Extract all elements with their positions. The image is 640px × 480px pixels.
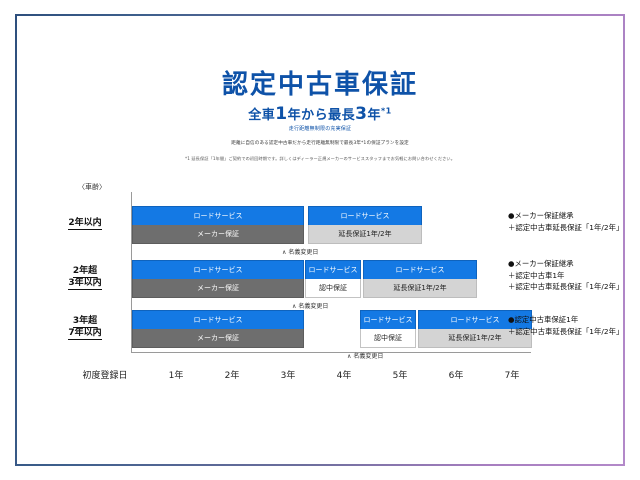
bar-segment: ロードサービスメーカー保証: [132, 310, 304, 348]
bar-segment-top-label: ロードサービス: [132, 310, 304, 329]
bar-segment: ロードサービスメーカー保証: [132, 206, 304, 244]
row-label-line: 3年超: [45, 316, 125, 328]
x-axis: 初度登録日1年2年3年4年5年6年7年: [45, 368, 597, 388]
annotation-line: ＋認定中古車延長保証「1年/2年」: [508, 281, 623, 293]
bar-segment-top-label: ロードサービス: [132, 206, 304, 225]
x-axis-tick: 1年: [169, 368, 184, 381]
subtitle-pre: 全車: [248, 108, 275, 123]
axis-unit-label: 〈車齢〉: [53, 182, 131, 192]
ownership-change-marker: ∧名義変更日: [347, 351, 383, 360]
slide-root: 認定中古車保証 全車1年から最長3年*1 走行距離無制限の充実保証 距離に自信の…: [0, 0, 640, 480]
subtitle-mid: 年から最長: [288, 108, 356, 123]
x-axis-tick: 初度登録日: [82, 368, 127, 381]
bar-segment: ロードサービスメーカー保証: [132, 260, 304, 298]
row-label: 2年超3年以内: [45, 266, 125, 290]
bar-segment-top-label: ロードサービス: [305, 260, 361, 279]
row-label: 2年以内: [45, 218, 125, 230]
bar-segment-bottom-label: メーカー保証: [132, 329, 304, 348]
caret-up-icon: ∧: [292, 303, 296, 310]
subtitle-footnote-mark: *1: [381, 107, 392, 116]
marker-label: 名義変更日: [298, 303, 328, 310]
horizontal-axis-line: [131, 352, 531, 353]
row-annotation: ●認定中古車保証1年＋認定中古車延長保証「1年/2年」: [508, 314, 623, 337]
caret-up-icon: ∧: [347, 353, 351, 360]
subtitle-num-2: 3: [355, 104, 367, 124]
bar-segment-top-label: ロードサービス: [360, 310, 416, 329]
x-axis-tick: 7年: [505, 368, 520, 381]
bar-segment: ロードサービス認中保証: [360, 310, 416, 348]
bar-segment-top-label: ロードサービス: [132, 260, 304, 279]
annotation-line: ●メーカー保証継承: [508, 258, 623, 270]
row-annotation: ●メーカー保証継承＋認定中古車延長保証「1年/2年」: [508, 210, 623, 233]
x-axis-tick: 4年: [337, 368, 352, 381]
annotation-line: ●メーカー保証継承: [508, 210, 623, 222]
page-subtitle: 全車1年から最長3年*1: [17, 104, 623, 124]
bar-segment-top-label: ロードサービス: [308, 206, 422, 225]
annotation-line: ＋認定中古車1年: [508, 270, 623, 282]
row-label-line: 7年以内: [45, 328, 125, 340]
row-label-line: 3年以内: [45, 278, 125, 290]
bar-segment-bottom-label: 延長保証1年/2年: [363, 279, 477, 298]
row-annotation: ●メーカー保証継承＋認定中古車1年＋認定中古車延長保証「1年/2年」: [508, 258, 623, 293]
subtitle-num-1: 1: [275, 104, 287, 124]
bar-segment-top-label: ロードサービス: [363, 260, 477, 279]
row-label-line: 2年以内: [45, 218, 125, 230]
bar-segment-bottom-label: 認中保証: [360, 329, 416, 348]
warranty-chart: 〈車齢〉 2年以内ロードサービスメーカー保証ロードサービス延長保証1年/2年∧名…: [45, 182, 597, 372]
page-note-primary: 距離に自信のある認定中古車だから走行距離無制限で最長3年*1の保証プランを設定: [17, 140, 623, 146]
bar-segment: ロードサービス延長保証1年/2年: [308, 206, 422, 244]
annotation-line: ＋認定中古車延長保証「1年/2年」: [508, 326, 623, 338]
page-subtitle-secondary: 走行距離無制限の充実保証: [17, 125, 623, 132]
marker-label: 名義変更日: [288, 249, 318, 256]
page-title: 認定中古車保証: [17, 64, 623, 101]
marker-label: 名義変更日: [353, 353, 383, 360]
x-axis-tick: 5年: [393, 368, 408, 381]
bar-segment: ロードサービス延長保証1年/2年: [363, 260, 477, 298]
bar-segment-bottom-label: メーカー保証: [132, 225, 304, 244]
slide-content: 認定中古車保証 全車1年から最長3年*1 走行距離無制限の充実保証 距離に自信の…: [17, 16, 623, 464]
x-axis-tick: 2年: [225, 368, 240, 381]
ownership-change-marker: ∧名義変更日: [282, 247, 318, 256]
row-label: 3年超7年以内: [45, 316, 125, 340]
page-note-footnote: *1 延長保証「1年間」ご契約での初回時期です。詳しくはディーラー正規メーカーの…: [17, 156, 623, 162]
subtitle-post: 年: [367, 108, 381, 123]
annotation-line: ●認定中古車保証1年: [508, 314, 623, 326]
bar-segment-bottom-label: 認中保証: [305, 279, 361, 298]
x-axis-tick: 3年: [281, 368, 296, 381]
x-axis-tick: 6年: [449, 368, 464, 381]
ownership-change-marker: ∧名義変更日: [292, 301, 328, 310]
caret-up-icon: ∧: [282, 249, 286, 256]
row-label-line: 2年超: [45, 266, 125, 278]
bar-segment-bottom-label: メーカー保証: [132, 279, 304, 298]
bar-segment-bottom-label: 延長保証1年/2年: [308, 225, 422, 244]
bar-segment: ロードサービス認中保証: [305, 260, 361, 298]
annotation-line: ＋認定中古車延長保証「1年/2年」: [508, 222, 623, 234]
